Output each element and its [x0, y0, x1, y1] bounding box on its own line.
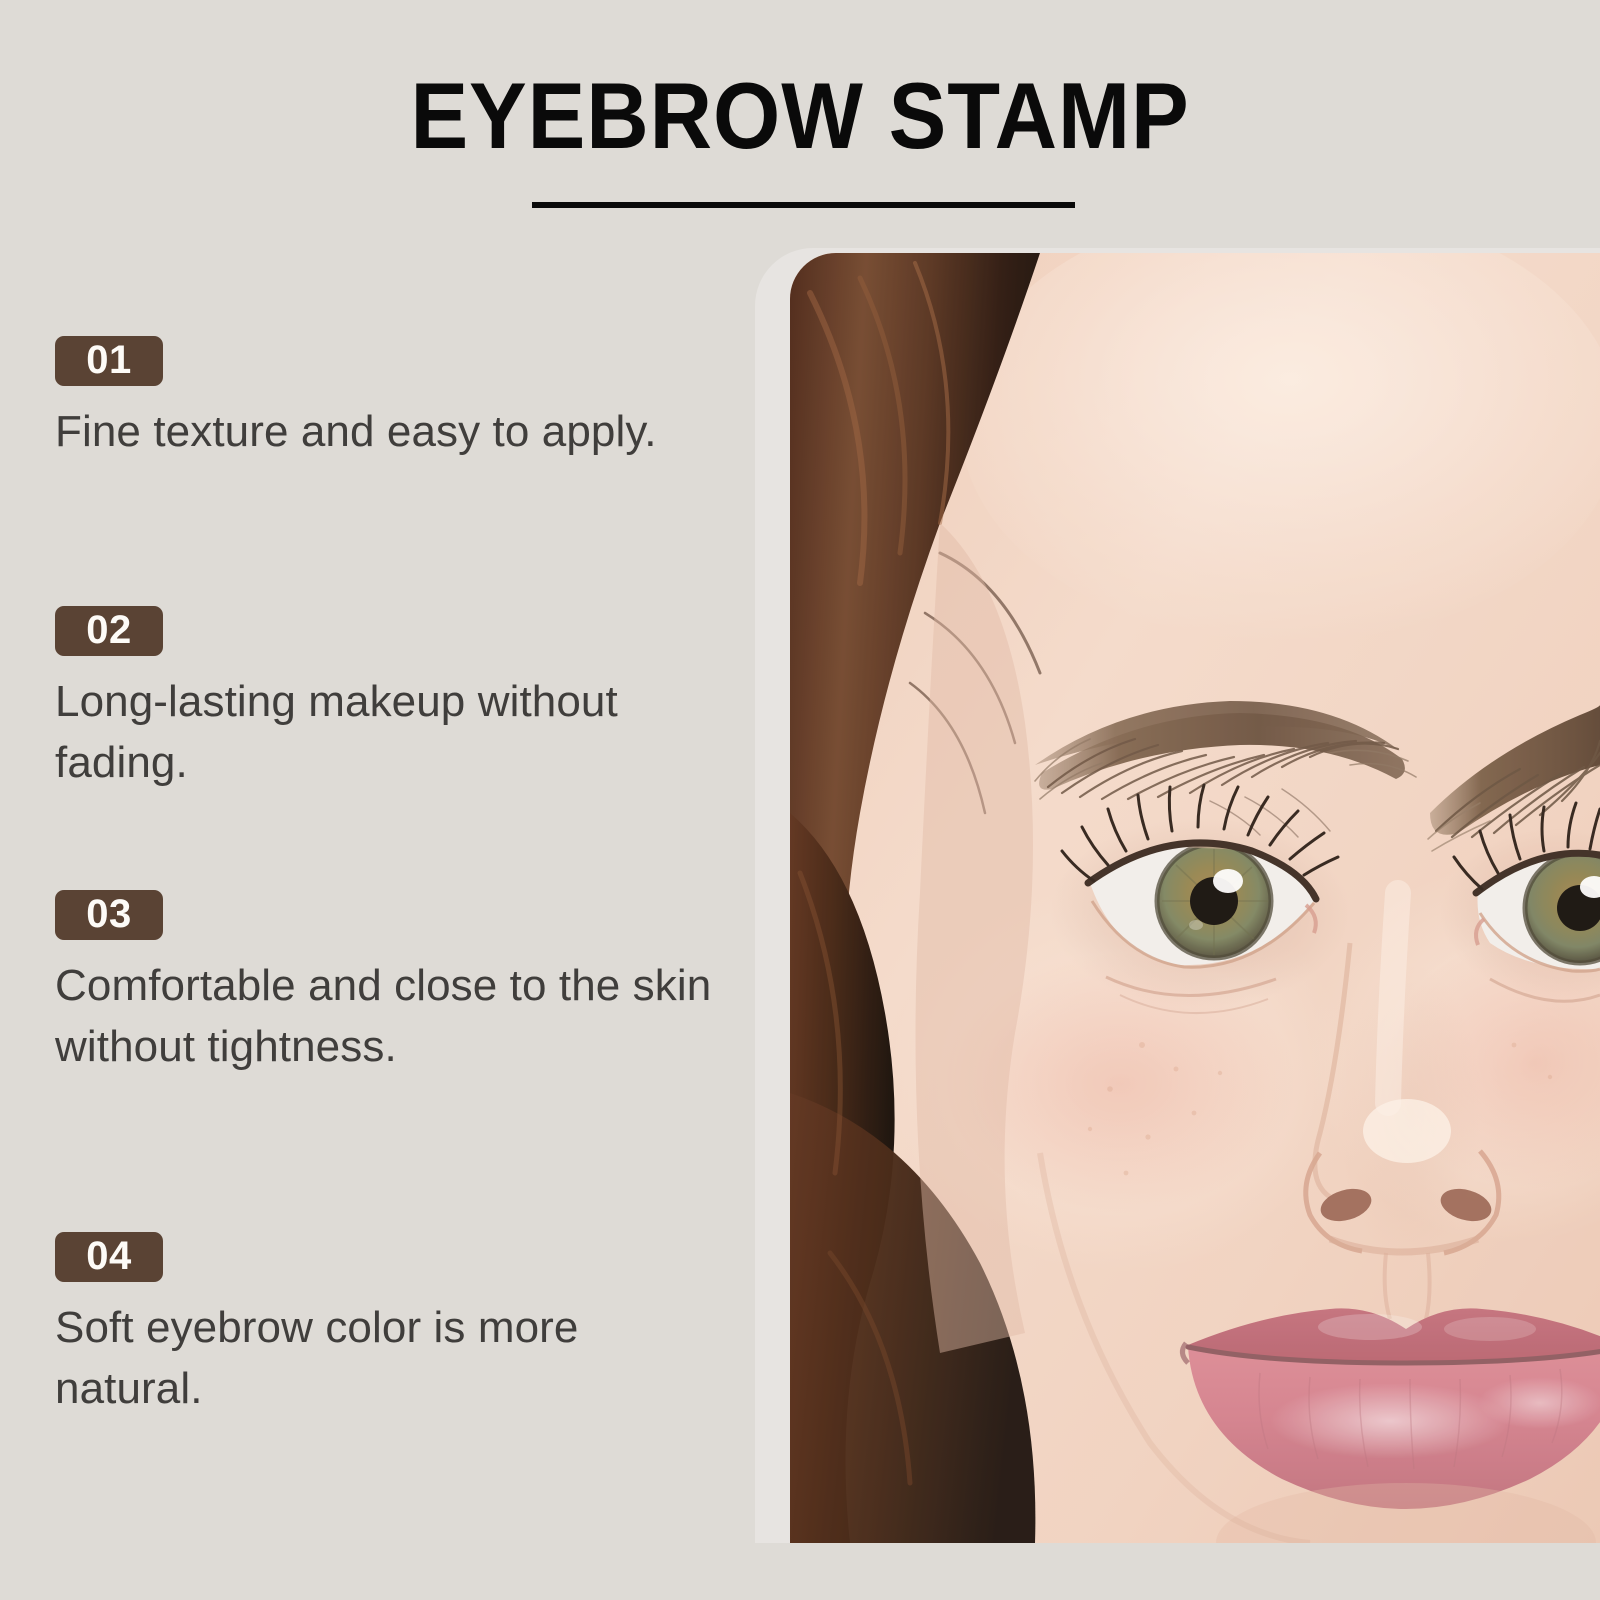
feature-badge-04: 04: [55, 1232, 163, 1282]
model-photo: [790, 253, 1600, 1543]
feature-item-01: 01 Fine texture and easy to apply.: [55, 336, 745, 463]
feature-item-03: 03 Comfortable and close to the skin wit…: [55, 890, 745, 1077]
feature-badge-02: 02: [55, 606, 163, 656]
face-illustration: [790, 253, 1600, 1543]
photo-frame: [755, 248, 1600, 1543]
feature-text-01: Fine texture and easy to apply.: [55, 402, 735, 463]
feature-text-02: Long-lasting makeup without fading.: [55, 672, 735, 793]
feature-text-04: Soft eyebrow color is more natural.: [55, 1298, 735, 1419]
feature-text-03: Comfortable and close to the skin withou…: [55, 956, 735, 1077]
feature-badge-01: 01: [55, 336, 163, 386]
feature-item-04: 04 Soft eyebrow color is more natural.: [55, 1232, 745, 1419]
feature-item-02: 02 Long-lasting makeup without fading.: [55, 606, 745, 793]
title-divider: [532, 202, 1075, 208]
page-title: EYEBROW STAMP: [64, 62, 1536, 170]
feature-badge-03: 03: [55, 890, 163, 940]
poster-canvas: EYEBROW STAMP 01 Fine texture and easy t…: [0, 0, 1600, 1600]
